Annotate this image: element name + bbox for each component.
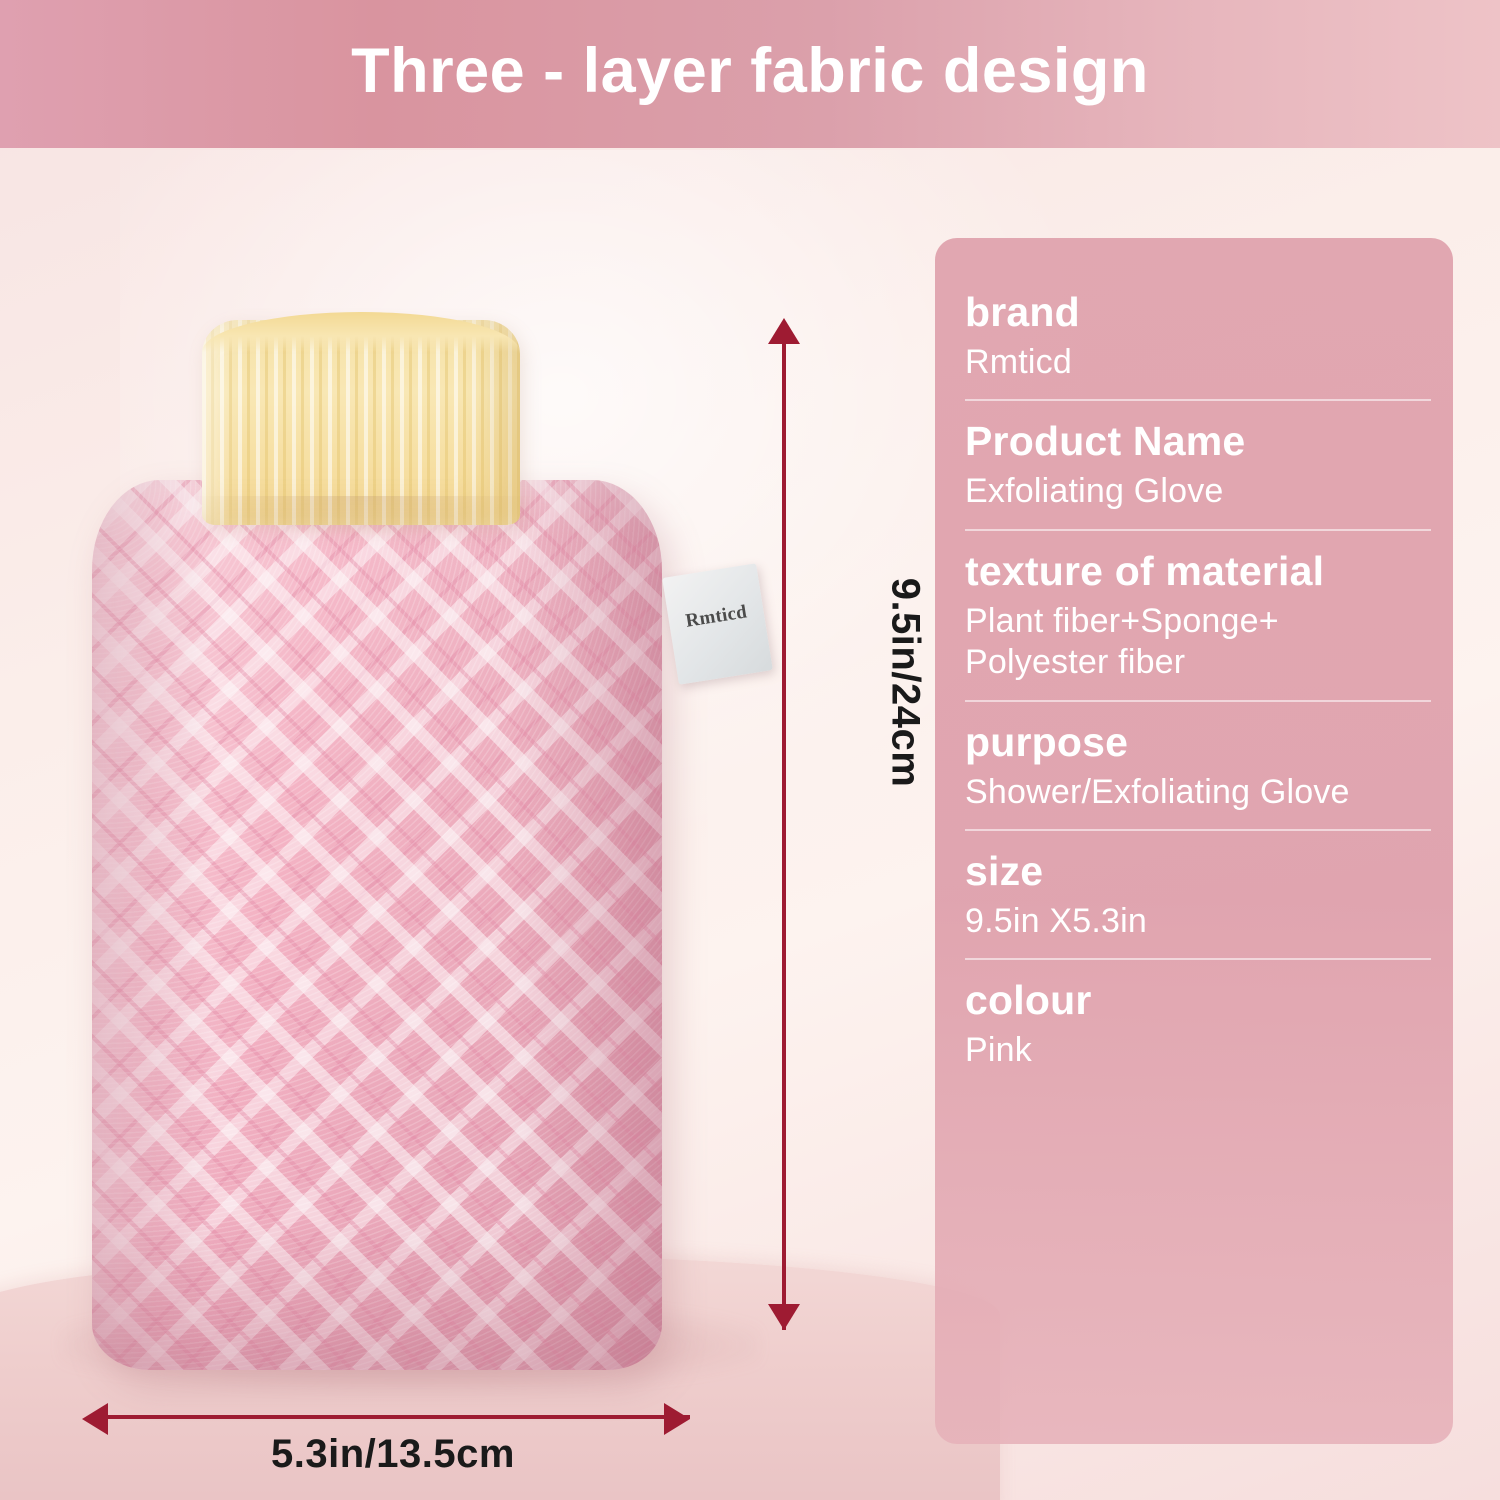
- brand-tag: Rmticd: [662, 563, 773, 685]
- spec-label: purpose: [965, 720, 1431, 766]
- brand-tag-label: Rmticd: [668, 599, 765, 636]
- spec-value: Pink: [965, 1030, 1431, 1071]
- spec-value: Rmticd: [965, 342, 1431, 383]
- glove-body: [92, 480, 662, 1370]
- page-title: Three - layer fabric design: [351, 40, 1149, 103]
- glove-cuff-rim: [202, 312, 520, 352]
- spec-label: colour: [965, 978, 1431, 1024]
- spec-panel: brand Rmticd Product Name Exfoliating Gl…: [935, 238, 1453, 1444]
- spec-label: brand: [965, 290, 1431, 336]
- height-dimension-line: [782, 330, 786, 1330]
- product-image: Rmticd: [70, 320, 710, 1380]
- height-arrow-down-icon: [768, 1304, 800, 1330]
- product-infographic: Three - layer fabric design Rmticd 9.5in…: [0, 0, 1500, 1500]
- spec-row: Product Name Exfoliating Glove: [965, 419, 1431, 530]
- spec-row: texture of material Plant fiber+Sponge+ …: [965, 549, 1431, 702]
- cuff-shadow: [190, 496, 540, 538]
- spec-value: Exfoliating Glove: [965, 471, 1431, 512]
- spec-value: Shower/Exfoliating Glove: [965, 772, 1431, 813]
- width-dimension-line: [96, 1415, 690, 1419]
- spec-row: purpose Shower/Exfoliating Glove: [965, 720, 1431, 831]
- width-arrow-right-icon: [664, 1403, 690, 1435]
- spec-value: Plant fiber+Sponge+ Polyester fiber: [965, 601, 1431, 684]
- height-dimension-label: 9.5in/24cm: [883, 513, 928, 853]
- spec-row: size 9.5in X5.3in: [965, 849, 1431, 960]
- spec-label: Product Name: [965, 419, 1431, 465]
- spec-label: texture of material: [965, 549, 1431, 595]
- height-arrow-up-icon: [768, 318, 800, 344]
- width-dimension-label: 5.3in/13.5cm: [96, 1432, 690, 1477]
- width-arrow-left-icon: [82, 1403, 108, 1435]
- body-shade-bottom: [92, 1220, 662, 1370]
- spec-row: brand Rmticd: [965, 290, 1431, 401]
- header-banner: Three - layer fabric design: [0, 0, 1500, 148]
- spec-value: 9.5in X5.3in: [965, 901, 1431, 942]
- spec-row: colour Pink: [965, 978, 1431, 1087]
- spec-list: brand Rmticd Product Name Exfoliating Gl…: [965, 290, 1431, 1106]
- spec-label: size: [965, 849, 1431, 895]
